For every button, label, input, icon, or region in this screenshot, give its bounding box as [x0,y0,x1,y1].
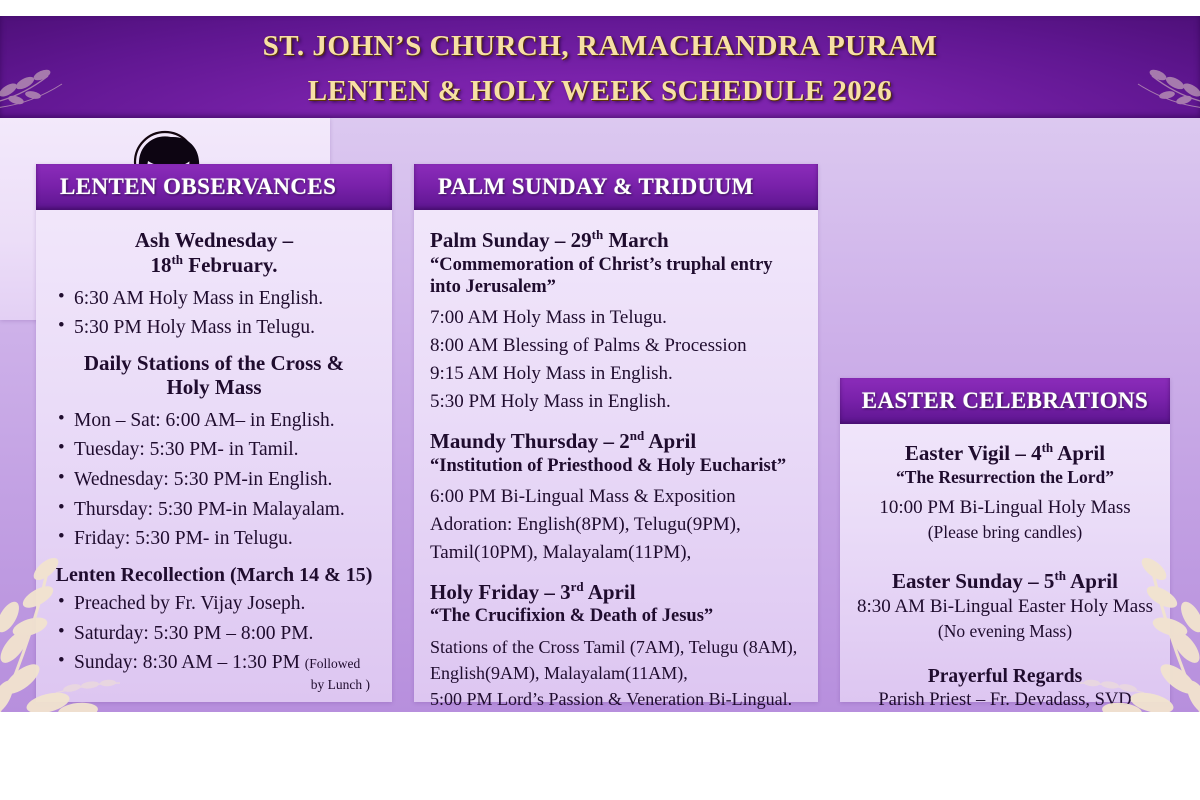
list-item: Friday: 5:30 PM- in Telugu. [52,524,376,554]
maundy-thursday-time: Tamil(10PM), Malayalam(11PM), [430,539,802,567]
daily-stations-heading-line-1: Daily Stations of the Cross & [84,351,344,375]
easter-sunday-heading: Easter Sunday – 5th April [856,568,1154,594]
ash-wednesday-ordinal: th [171,252,183,267]
ash-wednesday-heading-line-1: Ash Wednesday – [135,228,293,252]
ash-wednesday-service-list: 6:30 AM Holy Mass in English. 5:30 PM Ho… [52,284,376,343]
poster-columns: LENTEN OBSERVANCES Ash Wednesday – 18th … [0,118,1200,712]
easter-vigil-title-pre: Easter Vigil – 4 [905,441,1042,465]
card-lenten-observances: LENTEN OBSERVANCES Ash Wednesday – 18th … [36,164,392,702]
palm-sunday-quote-line-2: into Jerusalem” [430,277,556,297]
list-item: Thursday: 5:30 PM-in Malayalam. [52,495,376,525]
list-item: Saturday: 5:30 PM – 8:00 PM. [52,619,376,649]
daily-stations-heading-line-2: Holy Mass [166,375,261,399]
poster-root: ST. JOHN’S CHURCH, RAMACHANDRA PURAM LEN… [0,16,1200,712]
palm-sunday-time: 7:00 AM Holy Mass in Telugu. [430,304,802,332]
palm-sunday-ordinal: th [592,227,604,242]
holy-friday-ordinal: rd [571,579,584,594]
easter-sunday-time: 8:30 AM Bi-Lingual Easter Holy Mass [856,595,1154,620]
easter-vigil-title-post: April [1053,441,1105,465]
maundy-thursday-title-post: April [644,429,696,453]
poster-title-band: ST. JOHN’S CHURCH, RAMACHANDRA PURAM LEN… [0,16,1200,118]
holy-friday-title-post: April [584,580,636,604]
ash-wednesday-day: 18 [150,253,171,277]
easter-sunday-title-pre: Easter Sunday – 5 [892,569,1054,593]
card-body-lenten: Ash Wednesday – 18th February. 6:30 AM H… [36,210,392,702]
lenten-recollection-heading: Lenten Recollection (March 14 & 15) [52,564,376,587]
ash-wednesday-heading: Ash Wednesday – 18th February. [52,228,376,278]
holy-friday-title-pre: Holy Friday – 3 [430,580,571,604]
holy-friday-time: Stations of the Cross Tamil (7AM), Telug… [430,634,802,660]
easter-sunday-ordinal: th [1054,568,1066,583]
easter-sunday-title-post: April [1066,569,1118,593]
list-item: Tuesday: 5:30 PM- in Tamil. [52,435,376,465]
spacer [856,649,1154,666]
card-header-palm-sunday: PALM SUNDAY & TRIDUUM [414,164,818,210]
list-item: 5:30 PM Holy Mass in Telugu. [52,313,376,343]
easter-vigil-note: (Please bring candles) [856,521,1154,544]
palm-sunday-heading: Palm Sunday – 29th March [430,227,802,253]
palm-sunday-time: 5:30 PM Holy Mass in English. [430,388,802,416]
daily-stations-heading: Daily Stations of the Cross & Holy Mass [52,351,376,400]
maundy-thursday-heading: Maundy Thursday – 2nd April [430,428,802,454]
maundy-thursday-time: 6:00 PM Bi-Lingual Mass & Exposition [430,483,802,511]
maundy-thursday-title-pre: Maundy Thursday – 2 [430,429,630,453]
card-easter-celebrations: EASTER CELEBRATIONS Easter Vigil – 4th A… [840,378,1170,702]
list-item: Preached by Fr. Vijay Joseph. [52,589,376,619]
easter-vigil-heading: Easter Vigil – 4th April [856,440,1154,466]
poster-title-line-1: ST. JOHN’S CHURCH, RAMACHANDRA PURAM [0,30,1200,63]
recollection-sunday-time: Sunday: 8:30 AM – 1:30 PM [74,652,305,673]
spacer [856,549,1154,566]
parish-priest-signature: Parish Priest – Fr. Devadass, SVD [856,690,1154,711]
palm-sunday-quote: “Commemoration of Christ’s truphal entry… [430,254,802,298]
maundy-thursday-quote: “Institution of Priesthood & Holy Euchar… [430,455,802,477]
holy-friday-quote: “The Crucifixion & Death of Jesus” [430,605,802,627]
holy-friday-heading: Holy Friday – 3rd April [430,579,802,605]
card-palm-sunday-triduum: PALM SUNDAY & TRIDUUM Palm Sunday – 29th… [414,164,818,702]
card-header-lenten: LENTEN OBSERVANCES [36,164,392,210]
poster-title-line-2: LENTEN & HOLY WEEK SCHEDULE 2026 [0,75,1200,108]
card-body-palm-sunday: Palm Sunday – 29th March “Commemoration … [414,210,818,702]
recollection-sunday-note: (Followed [305,656,361,671]
ash-wednesday-month: February. [183,253,278,277]
maundy-thursday-ordinal: nd [630,428,644,443]
list-item-sunday: Sunday: 8:30 AM – 1:30 PM (Followed by L… [52,648,376,695]
maundy-thursday-time: Adoration: English(8PM), Telugu(9PM), [430,511,802,539]
easter-sunday-note: (No evening Mass) [856,620,1154,643]
palm-sunday-time: 8:00 AM Blessing of Palms & Procession [430,332,802,360]
lenten-recollection-list: Preached by Fr. Vijay Joseph. Saturday: … [52,589,376,695]
easter-vigil-ordinal: th [1042,440,1054,455]
list-item: Mon – Sat: 6:00 AM– in English. [52,406,376,436]
list-item: Wednesday: 5:30 PM-in English. [52,465,376,495]
palm-sunday-time: 9:15 AM Holy Mass in English. [430,360,802,388]
easter-vigil-time: 10:00 PM Bi-Lingual Holy Mass [856,496,1154,521]
card-header-easter: EASTER CELEBRATIONS [840,378,1170,424]
palm-sunday-title-post: March [603,228,669,252]
easter-vigil-quote: “The Resurrection the Lord” [856,467,1154,488]
holy-friday-time: 5:00 PM Lord’s Passion & Veneration Bi-L… [430,686,802,712]
recollection-sunday-note-2: by Lunch ) [74,675,376,696]
daily-stations-list: Mon – Sat: 6:00 AM– in English. Tuesday:… [52,406,376,554]
list-item: 6:30 AM Holy Mass in English. [52,284,376,314]
card-body-easter: Easter Vigil – 4th April “The Resurrecti… [840,424,1170,702]
palm-sunday-quote-line-1: “Commemoration of Christ’s truphal entry [430,255,773,275]
prayerful-regards: Prayerful Regards [856,666,1154,688]
holy-friday-time: English(9AM), Malayalam(11AM), [430,660,802,686]
palm-sunday-title-pre: Palm Sunday – 29 [430,228,592,252]
